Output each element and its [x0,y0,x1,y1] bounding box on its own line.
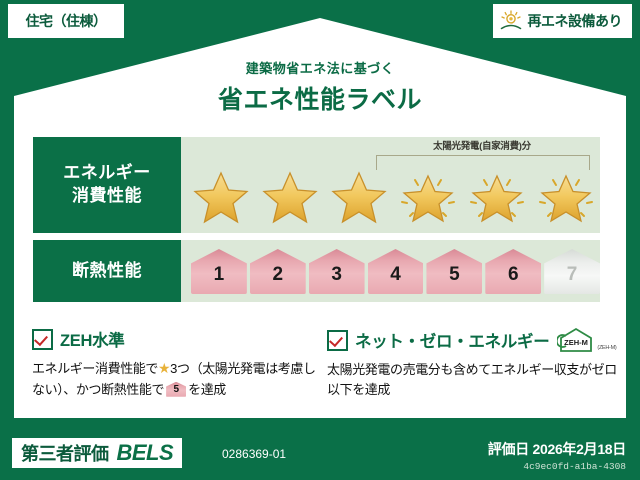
title-main: 省エネ性能ラベル [0,80,640,116]
renewable-equipment-badge: 再エネ設備あり [493,4,633,38]
star-cell [256,167,325,229]
star-solar-icon [466,170,528,226]
star-rating [181,167,600,229]
solar-bracket-label: 太陽光発電(自家消費)分 [366,138,598,152]
grade-badge-inactive: 7 [544,249,600,294]
criterion-net-zero-body: 太陽光発電の売電分も含めてエネルギー収支がゼロ以下を達成 [327,360,617,400]
grade-badge: 5 [426,249,482,294]
check-icon [32,329,53,350]
grade-badge: 3 [309,249,365,294]
criterion-zeh-title: ZEH水準 [60,327,125,351]
grade-number: 1 [191,249,247,294]
star-cell-solar [462,167,531,229]
label-frame: 住宅（住棟） 再エネ設備あり 建築物省エネ法に基づく 省エネ性能ラベル エネルギ… [0,0,640,480]
star-icon [192,170,250,226]
bels-logo: BELS [117,440,174,466]
inline-grade-badge: 5 [166,382,186,397]
renewable-equipment-label: 再エネ設備あり [528,11,623,31]
criterion-net-zero-title: ネット・ゼロ・エネルギー [355,328,549,352]
insulation-grades-panel: 1 2 3 4 5 [181,240,600,302]
criterion-net-zero: ネット・ゼロ・エネルギー ZEH-M (ZEH-M) 太陽光発電の売電分も含めて… [327,327,617,400]
grade-badge: 1 [191,249,247,294]
grade-number: 5 [426,249,482,294]
star-solar-icon [535,170,597,226]
zeh-m-logo: ZEH-M (ZEH-M) [557,327,616,353]
energy-stars-panel: 太陽光発電(自家消費)分 [181,137,600,233]
registration-number: 0286369-01 [222,447,286,461]
energy-label-line2: 消費性能 [72,185,142,208]
third-party-evaluation-badge: 第三者評価 BELS [12,438,182,468]
star-cell-solar [531,167,600,229]
grade-number: 4 [368,249,424,294]
third-party-evaluation-label: 第三者評価 [21,440,109,466]
criterion-zeh: ZEH水準 エネルギー消費性能で★3つ（太陽光発電は考慮しない）、かつ断熱性能で… [32,327,322,400]
criterion-net-zero-header: ネット・ゼロ・エネルギー ZEH-M (ZEH-M) [327,327,617,353]
insulation-performance-row: 断熱性能 1 2 3 4 [33,240,600,302]
star-icon [261,170,319,226]
svg-text:ZEH-M: ZEH-M [565,338,589,347]
star-icon [330,170,388,226]
zeh-m-house-icon: ZEH-M [557,327,595,353]
title-subtitle: 建築物省エネ法に基づく [0,58,640,77]
insulation-performance-label: 断熱性能 [33,240,181,302]
sun-icon [499,10,523,32]
grade-badge: 2 [250,249,306,294]
grade-number: 7 [544,249,600,294]
grade-badge: 4 [368,249,424,294]
energy-performance-row: エネルギー 消費性能 太陽光発電(自家消費)分 [33,137,600,233]
criterion-zeh-body: エネルギー消費性能で★3つ（太陽光発電は考慮しない）、かつ断熱性能で5を達成 [32,358,322,400]
star-solar-icon [397,170,459,226]
grade-scale: 1 2 3 4 5 [181,249,600,294]
grade-number: 2 [250,249,306,294]
building-type-label: 住宅（住棟） [26,11,107,31]
label-title: 建築物省エネ法に基づく 省エネ性能ラベル [0,58,640,116]
check-icon [327,330,348,351]
label-footer: 第三者評価 BELS 0286369-01 評価日 2026年2月18日 4c9… [0,422,640,480]
grade-badge: 6 [485,249,541,294]
criterion-zeh-body-pre: エネルギー消費性能で [32,361,158,376]
criterion-zeh-header: ZEH水準 [32,327,322,351]
star-cell [187,167,256,229]
star-icon: ★ [158,360,170,376]
grade-number: 3 [309,249,365,294]
criterion-zeh-body-post: を達成 [188,382,226,397]
document-id: 4c9ec0fd-a1ba-4308 [488,461,626,472]
star-cell [325,167,394,229]
star-cell-solar [393,167,462,229]
footer-right: 評価日 2026年2月18日 4c9ec0fd-a1ba-4308 [488,439,626,472]
inline-grade-number: 5 [166,382,186,397]
energy-performance-label: エネルギー 消費性能 [33,137,181,233]
grade-number: 6 [485,249,541,294]
evaluation-date: 評価日 2026年2月18日 [488,439,626,459]
insulation-label-text: 断熱性能 [72,260,142,283]
zeh-m-logo-caption: (ZEH-M) [597,345,616,353]
energy-label-line1: エネルギー [63,162,151,185]
building-type-badge: 住宅（住棟） [8,4,124,38]
